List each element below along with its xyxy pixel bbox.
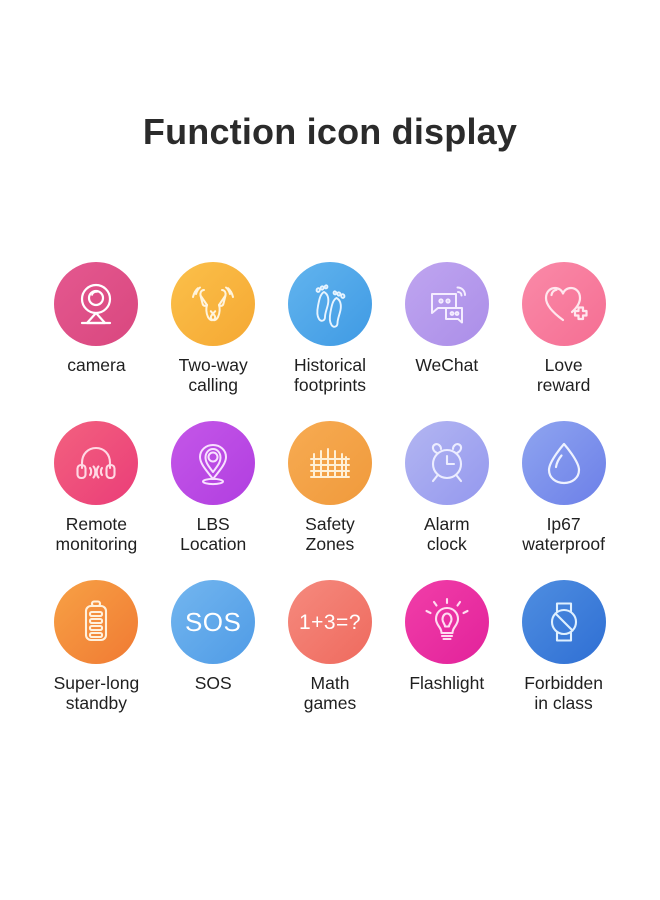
- battery-icon: [70, 596, 122, 648]
- icon-cell-sos[interactable]: SOS SOS: [155, 580, 272, 713]
- two-handsets-icon: [187, 278, 239, 330]
- icon-cell-historical-footprints[interactable]: Historical footprints: [272, 262, 389, 395]
- water-drop-icon: [538, 437, 590, 489]
- footprints-icon: [304, 278, 356, 330]
- icon-label: Alarm clock: [424, 515, 470, 554]
- icon-label: Safety Zones: [305, 515, 355, 554]
- icon-circle-two-way-calling[interactable]: [171, 262, 255, 346]
- sos-text-icon: SOS: [185, 609, 241, 635]
- headphones-icon: [70, 437, 122, 489]
- icon-cell-alarm-clock[interactable]: Alarm clock: [388, 421, 505, 554]
- icon-label: Historical footprints: [294, 356, 366, 395]
- icon-circle-math-games[interactable]: 1+3=?: [288, 580, 372, 664]
- webcam-icon: [71, 279, 121, 329]
- icon-label: Ip67 waterproof: [522, 515, 605, 554]
- icon-circle-camera[interactable]: [54, 262, 138, 346]
- icon-label: camera: [67, 356, 125, 376]
- icon-circle-alarm-clock[interactable]: [405, 421, 489, 505]
- function-icon-display-page: Function icon display camera: [0, 0, 660, 900]
- icon-circle-wechat[interactable]: [405, 262, 489, 346]
- heart-plus-icon: [538, 278, 590, 330]
- icon-label: Remote monitoring: [56, 515, 138, 554]
- icon-label: Super-long standby: [54, 674, 140, 713]
- icon-circle-forbidden-in-class[interactable]: [522, 580, 606, 664]
- icon-circle-super-long-standby[interactable]: [54, 580, 138, 664]
- icon-circle-safety-zones[interactable]: [288, 421, 372, 505]
- icon-circle-love-reward[interactable]: [522, 262, 606, 346]
- fence-icon: [304, 437, 356, 489]
- icon-circle-remote-monitoring[interactable]: [54, 421, 138, 505]
- icon-cell-forbidden-in-class[interactable]: Forbidden in class: [505, 580, 622, 713]
- icon-cell-love-reward[interactable]: Love reward: [505, 262, 622, 395]
- icon-label: WeChat: [415, 356, 478, 376]
- icon-label: Flashlight: [409, 674, 484, 694]
- icon-label: LBS Location: [180, 515, 246, 554]
- icon-cell-wechat[interactable]: WeChat: [388, 262, 505, 395]
- math-equation-icon: 1+3=?: [299, 612, 361, 633]
- icon-cell-lbs-location[interactable]: LBS Location: [155, 421, 272, 554]
- chat-bubbles-icon: [421, 278, 473, 330]
- icon-label: Math games: [304, 674, 357, 713]
- page-title: Function icon display: [0, 112, 660, 152]
- icon-cell-two-way-calling[interactable]: Two-way calling: [155, 262, 272, 395]
- icon-cell-super-long-standby[interactable]: Super-long standby: [38, 580, 155, 713]
- icon-grid: camera: [38, 262, 622, 714]
- icon-cell-ip67-waterproof[interactable]: Ip67 waterproof: [505, 421, 622, 554]
- icon-cell-camera[interactable]: camera: [38, 262, 155, 395]
- icon-label: SOS: [195, 674, 232, 694]
- icon-cell-remote-monitoring[interactable]: Remote monitoring: [38, 421, 155, 554]
- icon-cell-math-games[interactable]: 1+3=? Math games: [272, 580, 389, 713]
- no-watch-icon: [538, 596, 590, 648]
- icon-cell-flashlight[interactable]: Flashlight: [388, 580, 505, 713]
- lightbulb-icon: [421, 596, 473, 648]
- alarm-clock-icon: [421, 437, 473, 489]
- icon-circle-ip67-waterproof[interactable]: [522, 421, 606, 505]
- icon-circle-lbs-location[interactable]: [171, 421, 255, 505]
- icon-cell-safety-zones[interactable]: Safety Zones: [272, 421, 389, 554]
- icon-circle-sos[interactable]: SOS: [171, 580, 255, 664]
- icon-label: Forbidden in class: [524, 674, 603, 713]
- map-pin-icon: [187, 437, 239, 489]
- icon-circle-historical-footprints[interactable]: [288, 262, 372, 346]
- icon-label: Two-way calling: [179, 356, 248, 395]
- icon-label: Love reward: [537, 356, 591, 395]
- icon-circle-flashlight[interactable]: [405, 580, 489, 664]
